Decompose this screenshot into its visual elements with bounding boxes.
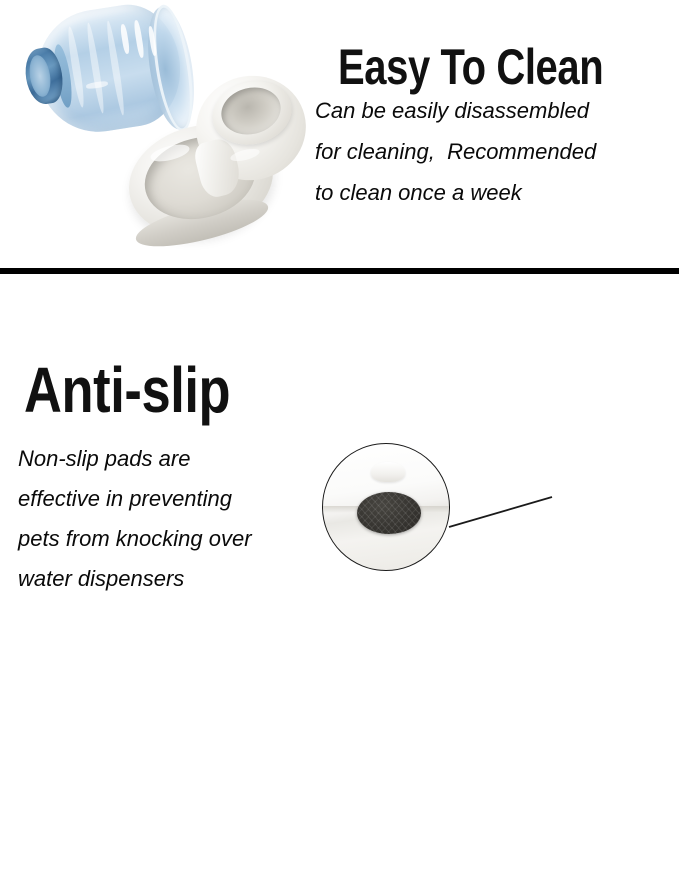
- callout-connector: [0, 0, 679, 601]
